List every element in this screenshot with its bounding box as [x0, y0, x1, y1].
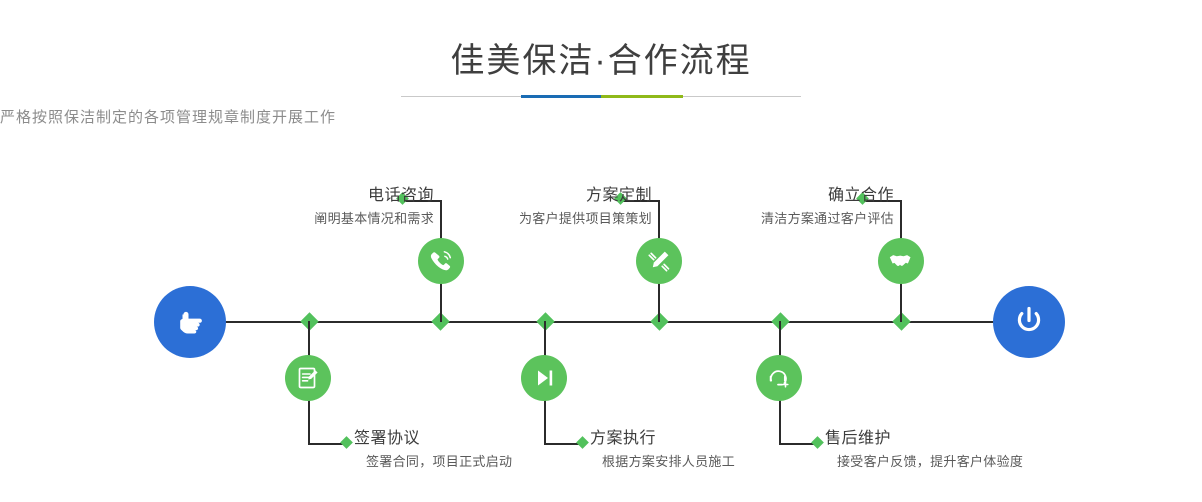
pencil-ruler-icon [645, 247, 673, 275]
power-icon [1009, 300, 1049, 345]
customer-support-icon [765, 364, 793, 392]
step-title-4: 方案执行 [590, 429, 735, 449]
step-desc-5: 清洁方案通过客户评估 [761, 209, 894, 229]
step-title-1: 电话咨询 [314, 186, 434, 206]
step-node-1 [418, 238, 464, 284]
phone-call-icon [427, 247, 455, 275]
step-desc-2: 签署合同，项目正式启动 [366, 452, 512, 472]
title-divider [401, 95, 801, 98]
step-node-3 [636, 238, 682, 284]
divider-segment-blue [521, 95, 601, 98]
step-desc-3: 为客户提供项目策策划 [519, 209, 652, 229]
step-label-3: 方案定制 为客户提供项目策策划 [519, 186, 652, 229]
page-title: 佳美保洁·合作流程 [0, 0, 1202, 78]
step-node-2 [285, 355, 331, 401]
step-label-1: 电话咨询 阐明基本情况和需求 [314, 186, 434, 229]
step-title-3: 方案定制 [519, 186, 652, 206]
timeline-marker-4 [650, 312, 668, 330]
document-edit-icon [294, 364, 322, 392]
timeline-marker-5 [771, 312, 789, 330]
step-label-4: 方案执行 根据方案安排人员施工 [590, 429, 735, 472]
step-node-6 [756, 355, 802, 401]
step-label-2: 签署协议 签署合同，项目正式启动 [354, 429, 512, 472]
process-flow-infographic: 佳美保洁·合作流程 严格按照保洁制定的各项管理规章制度开展工作 [0, 0, 1202, 502]
step-title-2: 签署协议 [354, 429, 512, 449]
handshake-icon [887, 247, 915, 275]
timeline-start-node [154, 286, 226, 358]
timeline-marker-3 [536, 312, 554, 330]
step-desc-6: 接受客户反馈，提升客户体验度 [837, 452, 1023, 472]
step-desc-1: 阐明基本情况和需求 [314, 209, 434, 229]
step-label-6: 售后维护 接受客户反馈，提升客户体验度 [825, 429, 1023, 472]
label-marker-step-4 [576, 436, 589, 449]
timeline-marker-6 [892, 312, 910, 330]
divider-segment-green [601, 95, 683, 98]
step-title-5: 确立合作 [761, 186, 894, 206]
step-label-5: 确立合作 清洁方案通过客户评估 [761, 186, 894, 229]
timeline-axis [160, 321, 1050, 323]
step-node-5 [878, 238, 924, 284]
timeline-marker-1 [300, 312, 318, 330]
step-desc-4: 根据方案安排人员施工 [602, 452, 735, 472]
header: 佳美保洁·合作流程 [0, 0, 1202, 78]
label-marker-step-6 [811, 436, 824, 449]
step-node-4 [521, 355, 567, 401]
play-execute-icon [530, 364, 558, 392]
pointing-hand-icon [170, 300, 210, 345]
page-subtitle: 严格按照保洁制定的各项管理规章制度开展工作 [0, 106, 1202, 127]
timeline-end-node [993, 286, 1065, 358]
step-title-6: 售后维护 [825, 429, 1023, 449]
label-marker-step-2 [340, 436, 353, 449]
